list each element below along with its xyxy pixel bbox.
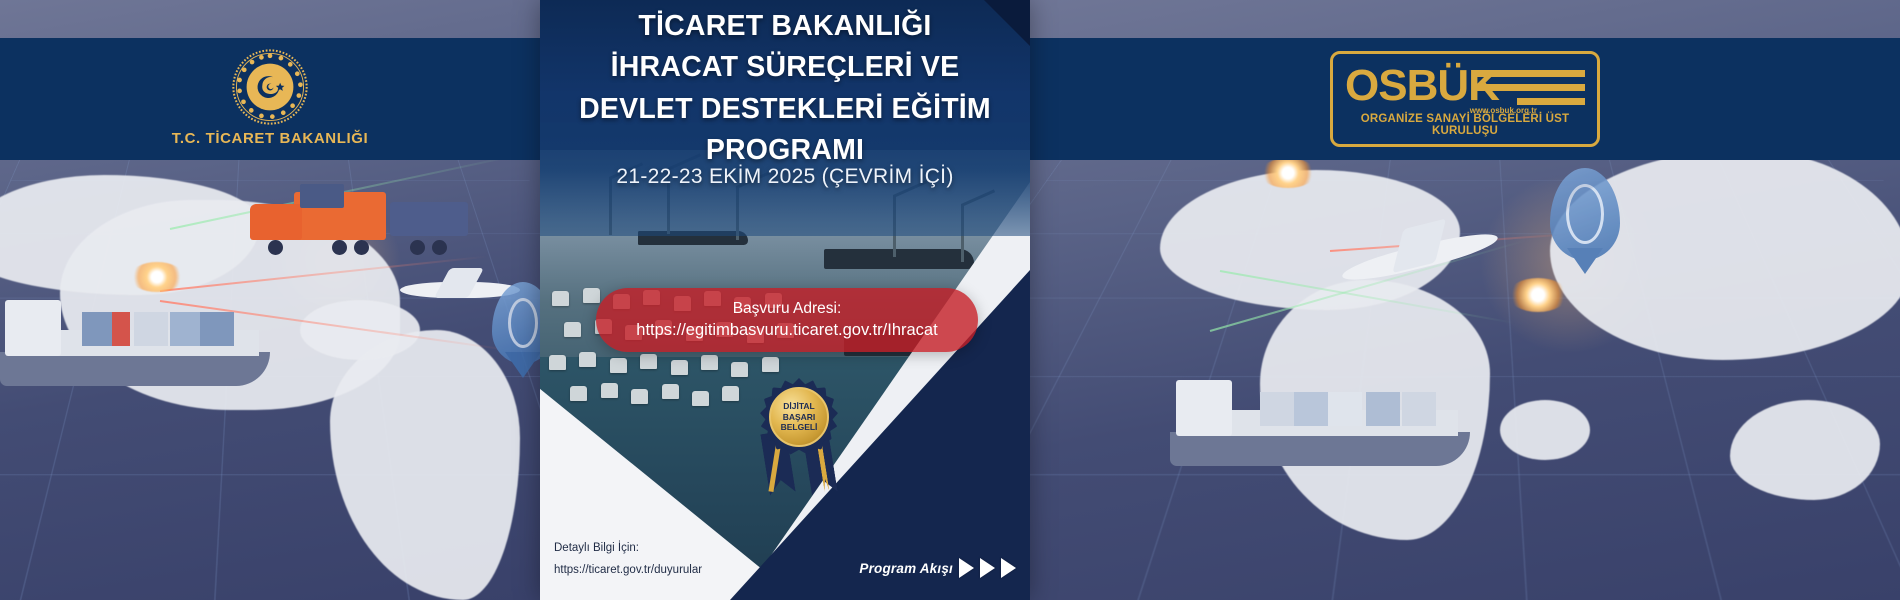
ministry-title: T.C. TİCARET BAKANLIĞI (172, 130, 369, 147)
event-date: 21-22-23 EKİM 2025 (ÇEVRİM İÇİ) (540, 165, 1030, 189)
digital-achievement-badge: DİJİTAL BAŞARI BELGELİ (750, 378, 848, 496)
badge-line-1: DİJİTAL (783, 401, 814, 412)
badge-line-3: BELGELİ (781, 422, 818, 433)
program-flow-label: Program Akışı (859, 561, 953, 576)
ministry-seal-icon (231, 48, 309, 126)
landmass-oceania (1730, 400, 1880, 500)
poster-title: TİCARET BAKANLIĞI İHRACAT SÜREÇLERİ VE D… (540, 0, 1030, 171)
badge-line-2: BAŞARI (783, 412, 816, 423)
route-hub-glow (130, 262, 184, 292)
docked-vessel (824, 249, 974, 269)
route-hub-glow (1260, 158, 1316, 188)
container-ship-icon (0, 310, 270, 386)
cargo-truck-icon (250, 190, 480, 248)
application-url-plate[interactable]: Başvuru Adresi: https://egitimbasvuru.ti… (596, 288, 978, 352)
chevron-right-icon (980, 558, 995, 578)
event-banner: T.C. TİCARET BAKANLIĞI OSBÜK www.osbuk.o… (0, 0, 1900, 600)
osbuk-subtitle: ORGANİZE SANAYİ BÖLGELERİ ÜST KURULUŞU (1333, 113, 1597, 137)
info-label: Detaylı Bilgi İçin: (554, 538, 702, 560)
title-line-3: DEVLET DESTEKLERİ EĞİTİM (562, 89, 1008, 130)
title-line-1: TİCARET BAKANLIĞI (562, 6, 1008, 47)
application-label: Başvuru Adresi: (733, 300, 842, 318)
chevron-right-icon (959, 558, 974, 578)
osbuk-header-bar: OSBÜK www.osbuk.org.tr ORGANİZE SANAYİ B… (1030, 38, 1900, 160)
info-url[interactable]: https://ticaret.gov.tr/duyurular (554, 560, 702, 582)
center-poster: TİCARET BAKANLIĞI İHRACAT SÜREÇLERİ VE D… (540, 0, 1030, 600)
landmass-island (1500, 400, 1590, 460)
osbuk-logo: OSBÜK www.osbuk.org.tr ORGANİZE SANAYİ B… (1330, 51, 1600, 147)
container-ship-icon (1170, 380, 1470, 466)
application-url[interactable]: https://egitimbasvuru.ticaret.gov.tr/Ihr… (636, 321, 937, 340)
chevron-right-icon (1001, 558, 1016, 578)
detail-info-block: Detaylı Bilgi İçin: https://ticaret.gov.… (554, 538, 702, 582)
badge-rosette-icon: DİJİTAL BAŞARI BELGELİ (760, 378, 838, 456)
title-line-2: İHRACAT SÜREÇLERİ VE (562, 47, 1008, 88)
ministry-header-bar: T.C. TİCARET BAKANLIĞI (0, 38, 540, 160)
program-flow-link[interactable]: Program Akışı (859, 558, 1016, 578)
route-hub-glow (1508, 278, 1568, 312)
